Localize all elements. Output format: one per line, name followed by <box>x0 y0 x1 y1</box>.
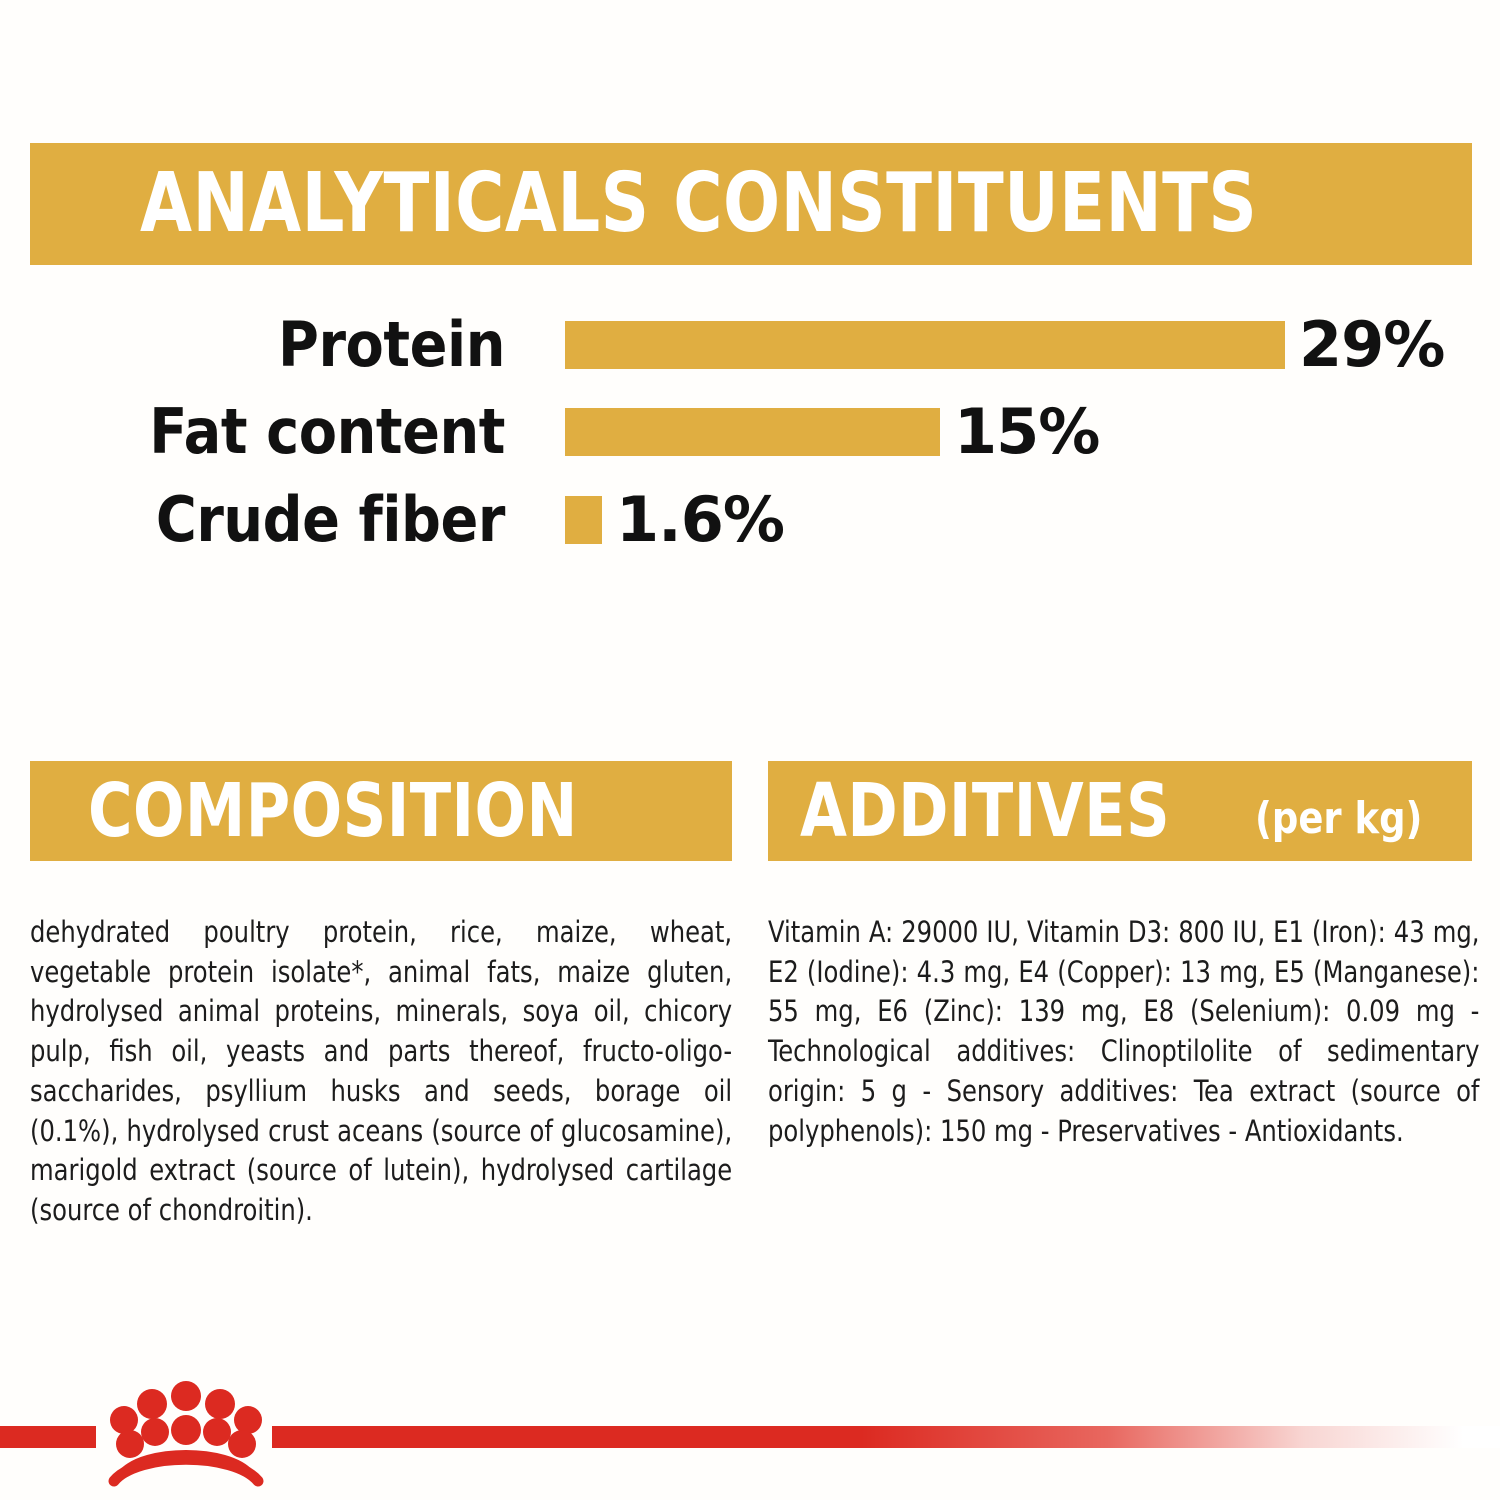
bar-row: Crude fiber 1.6% <box>0 485 1500 555</box>
section-header-additives: ADDITIVES (per kg) <box>768 761 1472 861</box>
bar-fill-protein <box>565 321 1285 369</box>
section-header-composition: COMPOSITION <box>30 761 732 861</box>
additives-title-suffix: (per kg) <box>1255 797 1422 841</box>
bar-track-crude-fiber: 1.6% <box>565 489 784 551</box>
composition-title: COMPOSITION <box>88 774 578 848</box>
bar-fill-fat-content <box>565 408 940 456</box>
bar-label-fat-content: Fat content <box>51 401 506 463</box>
additives-title: ADDITIVES <box>800 774 1170 848</box>
additives-body-text: Vitamin A: 29000 IU, Vitamin D3: 800 IU,… <box>768 913 1479 1151</box>
bar-track-fat-content: 15% <box>565 401 1099 463</box>
bar-label-protein: Protein <box>51 314 506 376</box>
bar-track-protein: 29% <box>565 314 1444 376</box>
composition-body-text: dehydrated poultry protein, rice, maize,… <box>30 913 732 1231</box>
bar-row: Fat content 15% <box>0 397 1500 467</box>
bar-value-crude-fiber: 1.6% <box>616 489 784 551</box>
analyticals-title: ANALYTICALS CONSTITUENTS <box>140 163 1257 245</box>
analyticals-bar-chart: Protein 29% Fat content 15% Crude fiber … <box>0 300 1500 570</box>
footer-rule-right <box>272 1426 1500 1448</box>
section-header-analyticals: ANALYTICALS CONSTITUENTS <box>30 143 1472 265</box>
brand-footer <box>0 1380 1500 1500</box>
bar-value-protein: 29% <box>1299 314 1444 376</box>
bar-row: Protein 29% <box>0 310 1500 380</box>
bar-value-fat-content: 15% <box>954 401 1099 463</box>
bar-fill-crude-fiber <box>565 496 602 544</box>
royal-canin-crown-icon <box>104 1380 268 1490</box>
footer-rule-left <box>0 1426 96 1448</box>
bar-label-crude-fiber: Crude fiber <box>51 489 506 551</box>
nutrition-panel: ANALYTICALS CONSTITUENTS Protein 29% Fat… <box>0 0 1500 1500</box>
